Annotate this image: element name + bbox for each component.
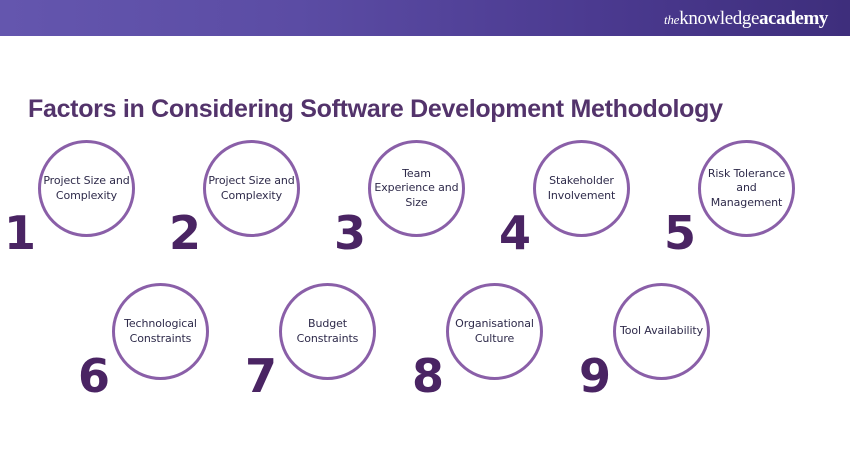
factor-circle: Team Experience and Size: [368, 140, 465, 237]
factor-circle: Project Size and Complexity: [38, 140, 135, 237]
factor-label: Project Size and Complexity: [206, 174, 297, 203]
factor-item: 3 Team Experience and Size: [356, 140, 453, 250]
factor-number: 3: [334, 210, 366, 256]
factor-label: Tool Availability: [616, 324, 707, 339]
factor-number: 1: [4, 210, 36, 256]
factor-number: 4: [499, 210, 531, 256]
factor-label: Risk Tolerance and Management: [701, 167, 792, 211]
factor-item: 6 Technological Constraints: [100, 283, 197, 393]
brand-the-text: the: [664, 13, 679, 26]
brand-knowledge-text: knowledge: [679, 9, 759, 28]
factor-item: 5 Risk Tolerance and Management: [686, 140, 783, 250]
factor-circle: Technological Constraints: [112, 283, 209, 380]
factor-item: 8 Organisational Culture: [434, 283, 531, 393]
factor-label: Team Experience and Size: [371, 167, 462, 211]
factor-item: 1 Project Size and Complexity: [26, 140, 123, 250]
factor-circle: Tool Availability: [613, 283, 710, 380]
factor-number: 2: [169, 210, 201, 256]
header-bar: theknowledgeacademy: [0, 0, 850, 36]
brand-academy-text: academy: [759, 9, 828, 28]
factor-number: 6: [78, 353, 110, 399]
factor-row-one: 1 Project Size and Complexity 2 Project …: [26, 140, 783, 250]
factor-circle: Budget Constraints: [279, 283, 376, 380]
factor-circle: Risk Tolerance and Management: [698, 140, 795, 237]
factor-number: 7: [245, 353, 277, 399]
brand-logo: theknowledgeacademy: [664, 9, 828, 28]
factor-label: Project Size and Complexity: [41, 174, 132, 203]
factor-label: Stakeholder Involvement: [536, 174, 627, 203]
factor-circle: Organisational Culture: [446, 283, 543, 380]
factor-number: 5: [664, 210, 696, 256]
factor-label: Organisational Culture: [449, 317, 540, 346]
factor-circle: Stakeholder Involvement: [533, 140, 630, 237]
factor-item: 4 Stakeholder Involvement: [521, 140, 618, 250]
factor-row-two: 6 Technological Constraints 7 Budget Con…: [100, 283, 698, 393]
factor-item: 2 Project Size and Complexity: [191, 140, 288, 250]
factor-label: Technological Constraints: [115, 317, 206, 346]
factor-label: Budget Constraints: [282, 317, 373, 346]
page-title: Factors in Considering Software Developm…: [28, 95, 723, 124]
factor-number: 9: [579, 353, 611, 399]
factor-circle: Project Size and Complexity: [203, 140, 300, 237]
factor-item: 9 Tool Availability: [601, 283, 698, 393]
factor-number: 8: [412, 353, 444, 399]
factor-item: 7 Budget Constraints: [267, 283, 364, 393]
